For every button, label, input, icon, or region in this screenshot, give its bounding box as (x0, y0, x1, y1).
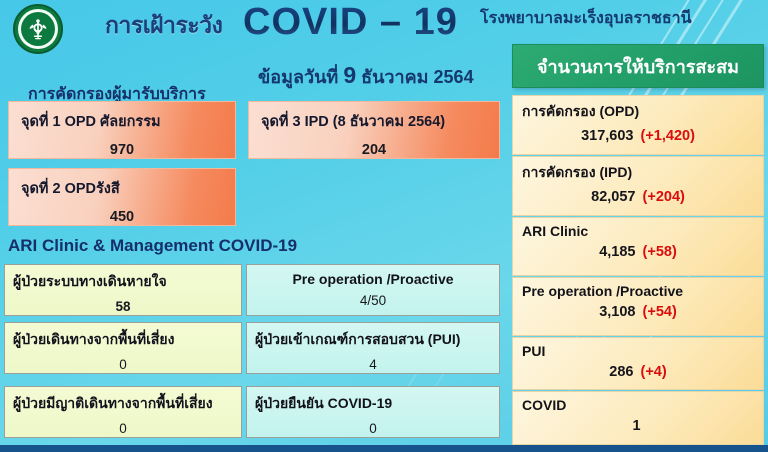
cumulative-row-values: 286 (+4) (522, 364, 754, 380)
cumulative-row-total: 286 (609, 364, 633, 380)
ari-cell-relatives-from-risk-area: ผู้ป่วยมีญาติเดินทางจากพื้นที่เสี่ยง 0 (4, 386, 242, 438)
ari-cell-label: ผู้ป่วยยืนยัน COVID-19 (255, 393, 491, 415)
ari-cell-value: 0 (13, 357, 233, 372)
cumulative-row-label: COVID (522, 397, 754, 413)
ari-section-heading: ARI Clinic & Management COVID-19 (8, 236, 297, 256)
cumulative-row-delta: (+54) (643, 304, 677, 320)
ari-cell-value: 58 (13, 299, 233, 314)
cumulative-row-delta: (+1,420) (641, 128, 695, 144)
cumulative-row-ari-clinic: ARI Clinic 4,185 (+58) (512, 217, 764, 276)
screening-point-value: 450 (21, 209, 223, 225)
screening-point-label: จุดที่ 1 OPD ศัลยกรรม (21, 110, 223, 133)
cumulative-row-label: Pre operation /Proactive (522, 283, 754, 299)
ari-cell-label: ผู้ป่วยเดินทางจากพื้นที่เสี่ยง (13, 329, 233, 351)
cumulative-row-delta: (+204) (643, 189, 685, 205)
cumulative-row-label: PUI (522, 343, 754, 359)
cumulative-row-total: 82,057 (591, 189, 635, 205)
hospital-name: โรงพยาบาลมะเร็งอุบลราชธานี (480, 6, 692, 31)
date-month-year: ธันวาคม 2564 (361, 67, 473, 87)
cumulative-row-values: 317,603 (+1,420) (522, 128, 754, 144)
ari-cell-label: ผู้ป่วยเข้าเกณฑ์การสอบสวน (PUI) (255, 329, 491, 351)
screening-point-label: จุดที่ 2 OPDรังสี (21, 177, 223, 200)
cumulative-panel-title: จำนวนการให้บริการสะสม (537, 52, 739, 81)
ari-cell-value: 4 (255, 357, 491, 372)
cumulative-row-pre-operation-proactive: Pre operation /Proactive 3,108 (+54) (512, 277, 764, 336)
ari-cell-label: ผู้ป่วยระบบทางเดินหายใจ (13, 271, 233, 293)
cumulative-row-values: 82,057 (+204) (522, 189, 754, 205)
screening-point-opd-surgery: จุดที่ 1 OPD ศัลยกรรม 970 (8, 101, 236, 159)
ari-cell-confirmed-covid19: ผู้ป่วยยืนยัน COVID-19 0 (246, 386, 500, 438)
screening-point-opd-radiology: จุดที่ 2 OPDรังสี 450 (8, 168, 236, 226)
data-date-line: ข้อมูลวันที่ 9 ธันวาคม 2564 (258, 62, 474, 91)
ari-cell-value: 0 (255, 421, 491, 436)
screening-point-value: 204 (261, 142, 487, 158)
cumulative-row-total: 1 (632, 418, 640, 434)
covid-surveillance-dashboard: การเฝ้าระวัง COVID – 19 โรงพยาบาลมะเร็งอ… (0, 0, 768, 452)
ari-cell-label: Pre operation /Proactive (255, 271, 491, 287)
date-prefix-label: ข้อมูลวันที่ (258, 67, 338, 87)
ari-cell-respiratory-patients: ผู้ป่วยระบบทางเดินหายใจ 58 (4, 264, 242, 316)
cumulative-row-total: 4,185 (599, 244, 635, 260)
cumulative-row-total: 317,603 (581, 128, 633, 144)
cumulative-row-values: 3,108 (+54) (522, 304, 754, 320)
cumulative-panel-header: จำนวนการให้บริการสะสม (512, 44, 764, 88)
cumulative-row-screening-opd: การคัดกรอง (OPD) 317,603 (+1,420) (512, 95, 764, 155)
screening-point-label: จุดที่ 3 IPD (8 ธันวาคม 2564) (261, 110, 487, 133)
ari-cell-pui: ผู้ป่วยเข้าเกณฑ์การสอบสวน (PUI) 4 (246, 322, 500, 374)
ari-cell-pre-operation-proactive: Pre operation /Proactive 4/50 (246, 264, 500, 316)
ari-cell-label: ผู้ป่วยมีญาติเดินทางจากพื้นที่เสี่ยง (13, 393, 233, 415)
cumulative-row-label: การคัดกรอง (IPD) (522, 162, 754, 184)
ari-cell-travel-from-risk-area: ผู้ป่วยเดินทางจากพื้นที่เสี่ยง 0 (4, 322, 242, 374)
ari-cell-value: 0 (13, 421, 233, 436)
date-day-number: 9 (343, 62, 356, 88)
cumulative-row-delta: (+4) (641, 364, 667, 380)
ari-cell-value: 4/50 (255, 293, 491, 308)
cumulative-row-values: 1 (522, 418, 754, 434)
cumulative-row-values: 4,185 (+58) (522, 244, 754, 260)
cumulative-row-label: ARI Clinic (522, 223, 754, 239)
page-title-covid: COVID – 19 (243, 1, 458, 44)
page-title-thai: การเฝ้าระวัง (105, 8, 222, 44)
cumulative-row-pui: PUI 286 (+4) (512, 337, 764, 390)
cumulative-row-delta: (+58) (643, 244, 677, 260)
cumulative-row-covid: COVID 1 (512, 391, 764, 445)
ministry-of-public-health-emblem-icon (10, 4, 66, 54)
cumulative-row-screening-ipd: การคัดกรอง (IPD) 82,057 (+204) (512, 156, 764, 216)
screening-point-ipd: จุดที่ 3 IPD (8 ธันวาคม 2564) 204 (248, 101, 500, 159)
screening-point-value: 970 (21, 142, 223, 158)
cumulative-row-total: 3,108 (599, 304, 635, 320)
cumulative-row-label: การคัดกรอง (OPD) (522, 101, 754, 123)
